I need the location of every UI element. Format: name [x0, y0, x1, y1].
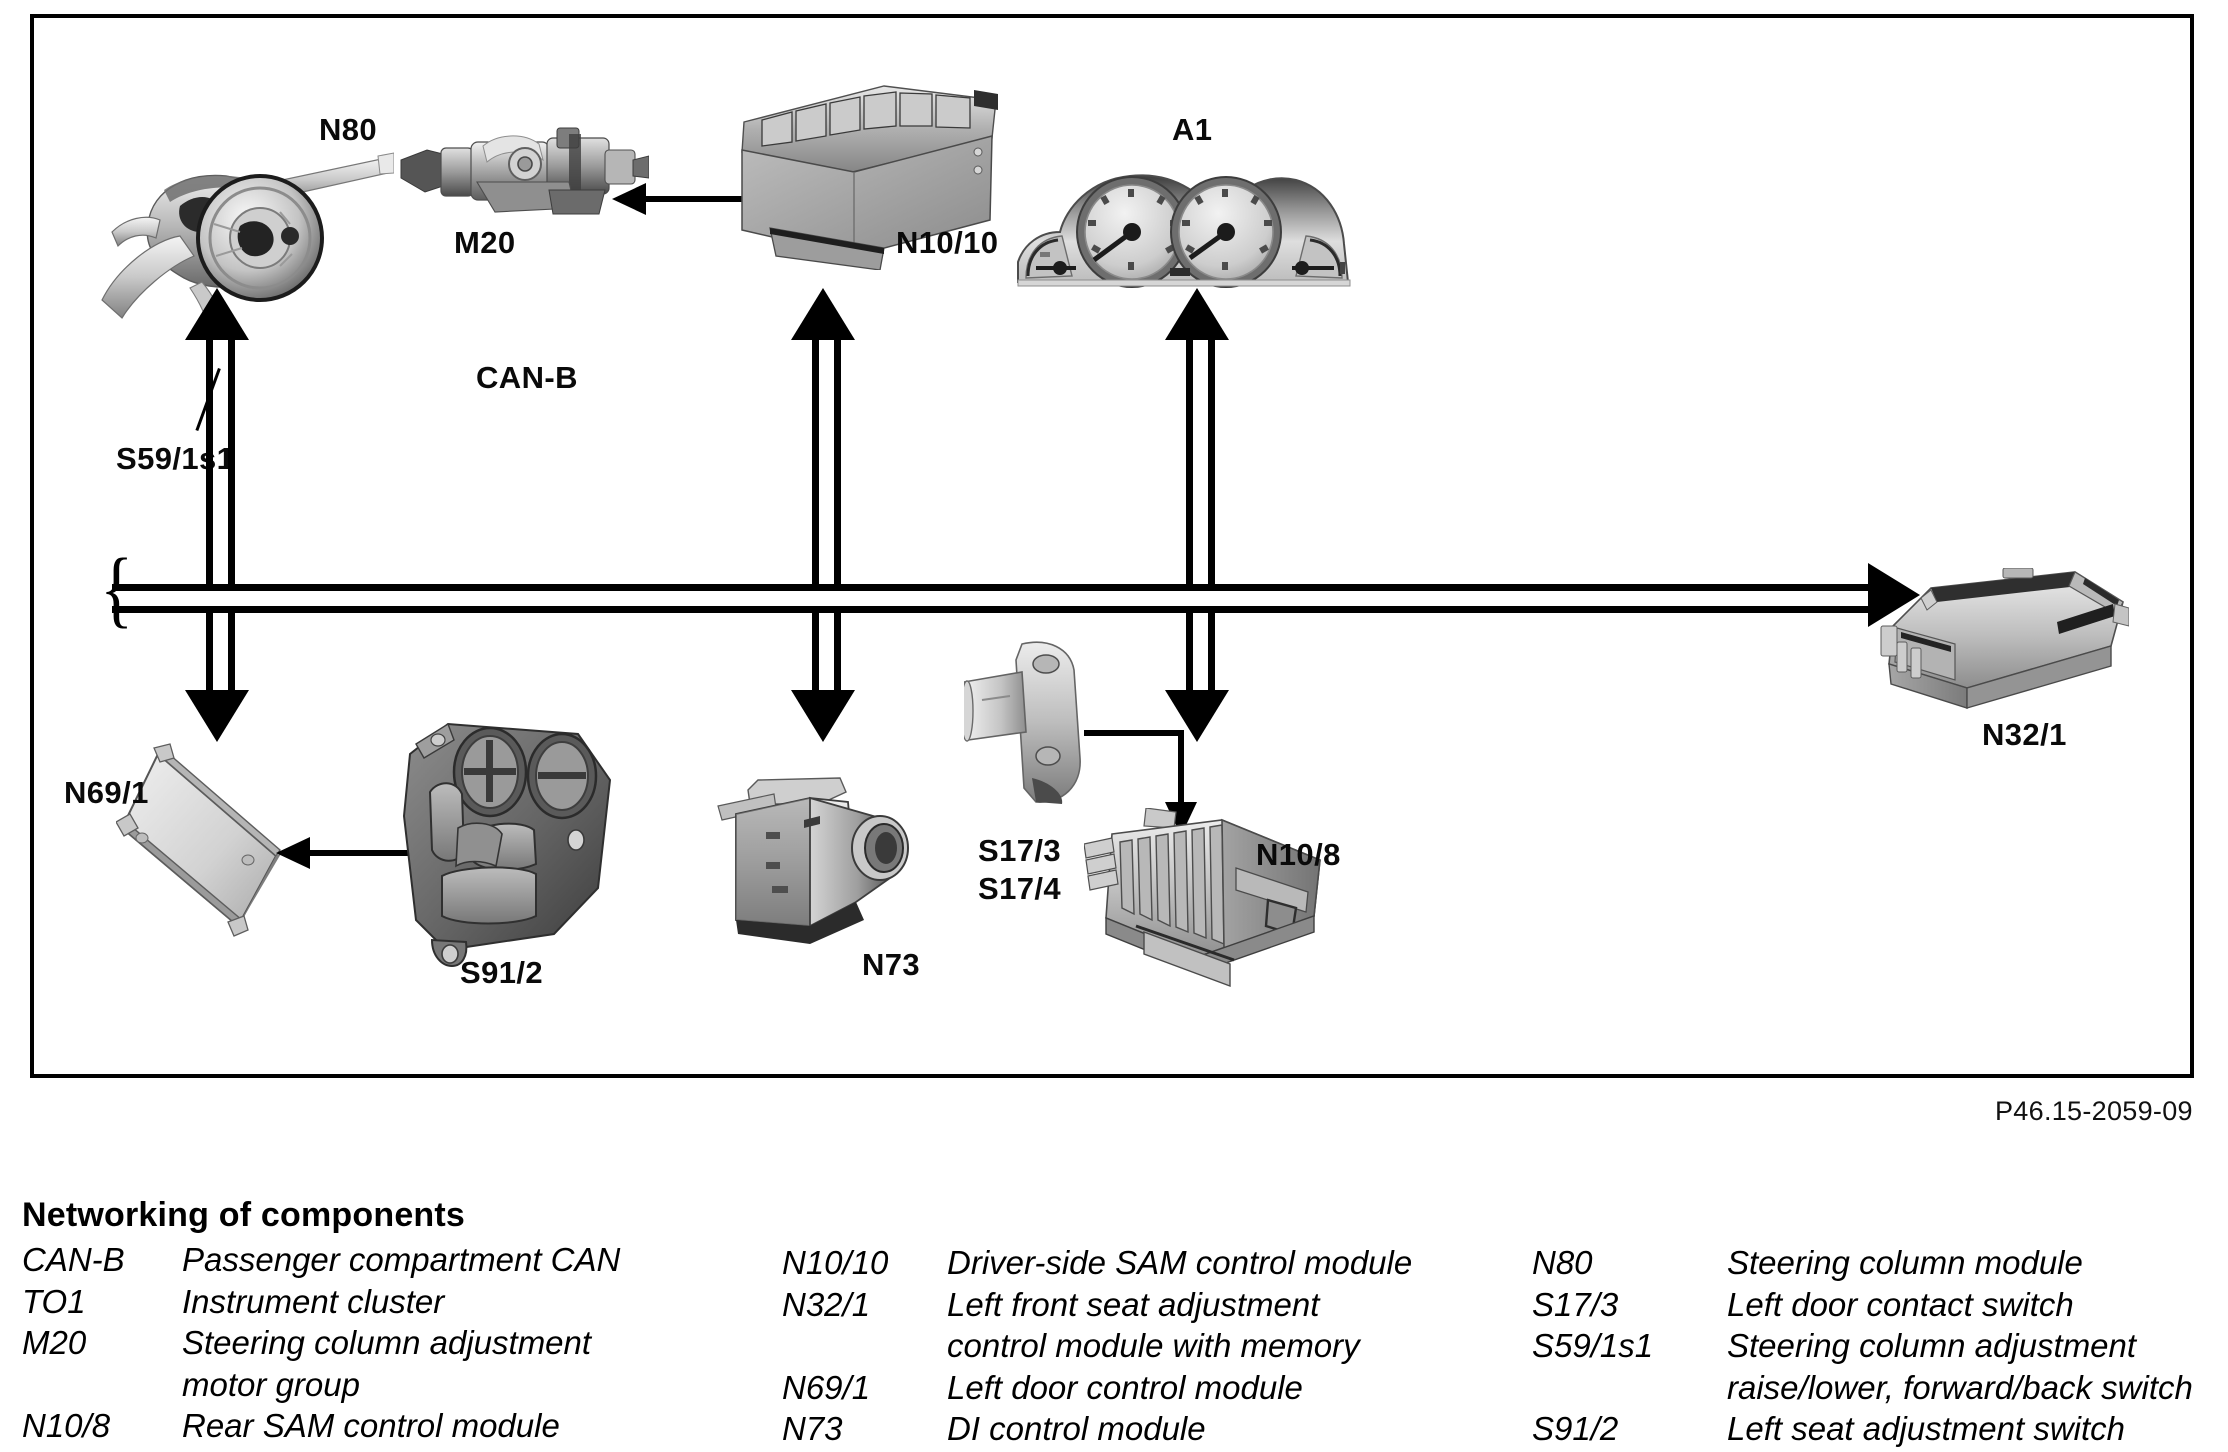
legend-text: Driver-side SAM control module [947, 1242, 1412, 1284]
legend-row: N32/1 Left front seat adjustment [782, 1284, 1532, 1326]
bus-arrowhead-2-up [791, 288, 855, 340]
diagram-page: N80 S59/1s1 [0, 0, 2228, 1452]
arrow-line-s17-to-n108-v [1178, 730, 1184, 806]
component-label-s59-1s1: S59/1s1 [116, 442, 234, 477]
legend-column-3: N80 Steering column module S17/3 Left do… [1532, 1196, 2228, 1450]
bus-branch-3-up [1186, 340, 1193, 588]
legend-text: Steering column adjustment [182, 1322, 591, 1364]
legend-row: M20 Steering column adjustment [22, 1322, 782, 1364]
component-image-s91-2 [386, 720, 616, 970]
legend-text: Instrument cluster [182, 1281, 444, 1323]
legend-row: N10/10 Driver-side SAM control module [782, 1242, 1532, 1284]
legend-text-2: raise/lower, forward/back switch [1727, 1367, 2193, 1409]
legend-text: Left seat adjustment switch [1727, 1408, 2125, 1450]
legend-code: M20 [22, 1322, 182, 1364]
component-label-n69-1: N69/1 [64, 776, 149, 811]
bus-arrowhead-1-up [185, 288, 249, 340]
diagram-frame: N80 S59/1s1 [30, 14, 2194, 1078]
component-label-n10-8: N10/8 [1256, 838, 1341, 873]
legend-row: N73 DI control module [782, 1408, 1532, 1450]
legend-text: DI control module [947, 1408, 1206, 1450]
legend-text: Left door control module [947, 1367, 1303, 1409]
component-image-m20 [399, 120, 649, 240]
legend-code: S91/2 [1532, 1408, 1727, 1450]
bus-label-can-b: CAN-B [476, 361, 578, 396]
legend: Networking of components CAN-B Passenger… [22, 1196, 2212, 1436]
legend-row: N69/1 Left door control module [782, 1367, 1532, 1409]
legend-row-continuation: control module with memory [782, 1325, 1532, 1367]
bus-branch-3-down-b [1208, 606, 1215, 694]
legend-row-continuation: motor group [22, 1364, 782, 1406]
component-image-n69-1 [116, 738, 286, 938]
legend-column-2: N10/10 Driver-side SAM control module N3… [782, 1196, 1532, 1450]
legend-row: CAN-B Passenger compartment CAN [22, 1239, 782, 1281]
bus-arrowhead-3-up [1165, 288, 1229, 340]
bus-branch-1-down [206, 606, 213, 694]
legend-row: TO1 Instrument cluster [22, 1281, 782, 1323]
legend-text: Left front seat adjustment [947, 1284, 1319, 1326]
component-label-s91-2: S91/2 [460, 956, 543, 991]
bus-branch-2-down-b [834, 606, 841, 694]
legend-row-continuation: raise/lower, forward/back switch [1532, 1367, 2228, 1409]
bus-branch-1-up-b [228, 340, 235, 588]
bus-arrowhead-1-down [185, 690, 249, 742]
arrowhead-s912-to-n691 [276, 837, 310, 869]
legend-row: N10/8 Rear SAM control module [22, 1405, 782, 1447]
legend-text-2: motor group [182, 1364, 360, 1406]
legend-code: N32/1 [782, 1284, 947, 1326]
bus-rail-bottom [112, 606, 1872, 613]
legend-title: Networking of components [22, 1196, 782, 1235]
legend-row: S91/2 Left seat adjustment switch [1532, 1408, 2228, 1450]
arrowhead-n1010-to-m20 [612, 183, 646, 215]
component-label-n10-10: N10/10 [896, 226, 998, 261]
legend-text: Steering column adjustment [1727, 1325, 2136, 1367]
legend-code: N80 [1532, 1242, 1727, 1284]
bus-rail-top [112, 584, 1872, 591]
legend-code: N10/10 [782, 1242, 947, 1284]
legend-code: N10/8 [22, 1405, 182, 1447]
bus-branch-1-down-b [228, 606, 235, 694]
component-label-n80: N80 [319, 113, 377, 148]
bus-branch-2-down [812, 606, 819, 694]
bus-branch-2-up-b [834, 340, 841, 588]
component-label-m20: M20 [454, 226, 516, 261]
legend-code: N73 [782, 1408, 947, 1450]
legend-text: Rear SAM control module [182, 1405, 560, 1447]
legend-text: Left door contact switch [1727, 1284, 2074, 1326]
bus-arrowhead-2-down [791, 690, 855, 742]
component-label-s17-4: S17/4 [978, 870, 1061, 908]
arrow-line-s17-to-n108-h [1084, 730, 1184, 736]
legend-code: S17/3 [1532, 1284, 1727, 1326]
legend-code: S59/1s1 [1532, 1325, 1727, 1367]
legend-text: Passenger compartment CAN [182, 1239, 620, 1281]
legend-code: N69/1 [782, 1367, 947, 1409]
component-image-s17 [964, 638, 1104, 808]
legend-row: S17/3 Left door contact switch [1532, 1284, 2228, 1326]
component-image-a1 [1014, 158, 1354, 290]
legend-text-2: control module with memory [947, 1325, 1360, 1367]
legend-row: N80 Steering column module [1532, 1242, 2228, 1284]
component-image-n73 [714, 774, 934, 944]
component-image-n32-1 [1879, 568, 2129, 718]
legend-row: S59/1s1 Steering column adjustment [1532, 1325, 2228, 1367]
legend-column-1: Networking of components CAN-B Passenger… [22, 1196, 782, 1447]
bus-branch-3-up-b [1208, 340, 1215, 588]
legend-code: TO1 [22, 1281, 182, 1323]
drawing-number: P46.15-2059-09 [1995, 1096, 2193, 1127]
bus-branch-2-up [812, 340, 819, 588]
legend-text: Steering column module [1727, 1242, 2083, 1284]
component-label-a1: A1 [1172, 113, 1212, 148]
legend-code: CAN-B [22, 1239, 182, 1281]
component-label-n73: N73 [862, 948, 920, 983]
bus-branch-1-up [206, 340, 213, 588]
component-label-s17-3: S17/3 [978, 832, 1061, 870]
component-label-n32-1: N32/1 [1982, 718, 2067, 753]
bus-branch-3-down [1186, 606, 1193, 694]
component-image-n10-8 [1084, 808, 1344, 988]
